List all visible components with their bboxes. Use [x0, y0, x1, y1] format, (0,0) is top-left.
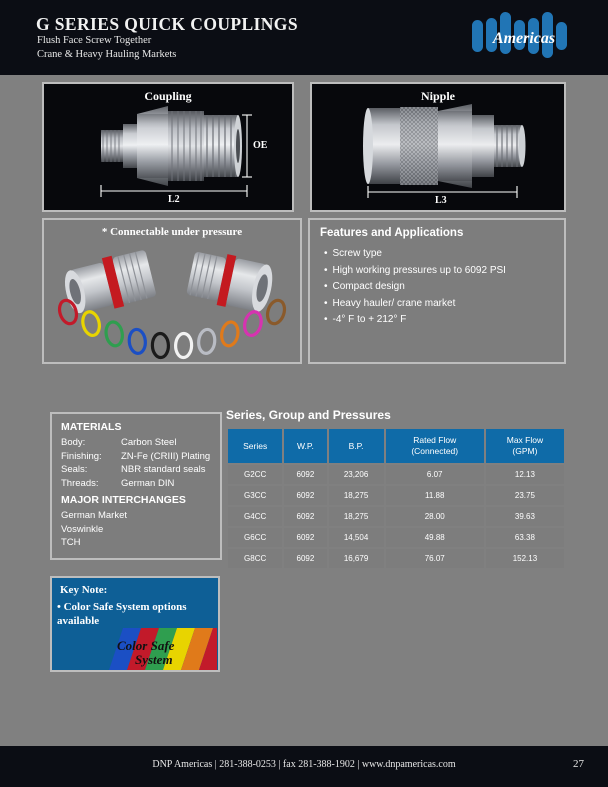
interchange-item: German Market: [61, 509, 127, 523]
table-row: G3CC 6092 18,275 11.88 23.75: [228, 486, 564, 505]
svg-text:Americas: Americas: [492, 30, 555, 47]
table-row: G6CC 6092 14,504 49.88 63.38: [228, 528, 564, 547]
color-ring: [80, 310, 101, 337]
coupler-pair-with-color-rings-image: [44, 234, 300, 362]
cell-wp: 6092: [284, 549, 326, 568]
material-value: Carbon Steel: [121, 436, 210, 450]
features-heading: Features and Applications: [320, 227, 463, 239]
cell-rated-flow: 49.88: [386, 528, 484, 547]
cell-max-flow: 12.13: [486, 465, 564, 484]
color-ring: [175, 333, 192, 358]
material-value: German DIN: [121, 477, 210, 491]
column-header-max-flow: Max Flow (GPM): [486, 429, 564, 463]
color-ring: [220, 321, 240, 347]
column-header-wp: W.P.: [284, 429, 326, 463]
cell-wp: 6092: [284, 528, 326, 547]
table-row: G8CC 6092 16,679 76.07 152.13: [228, 549, 564, 568]
column-header-series: Series: [228, 429, 282, 463]
column-header-rated-flow: Rated Flow (Connected): [386, 429, 484, 463]
coupling-dim-l2: L2: [168, 194, 180, 205]
cell-series: G8CC: [228, 549, 282, 568]
features-list: Screw type High working pressures up to …: [324, 246, 558, 329]
key-note-title: Key Note:: [60, 584, 107, 596]
table-header-row: Series W.P. B.P. Rated Flow (Connected) …: [228, 429, 564, 463]
dnp-americas-logo: Americas: [470, 12, 578, 64]
material-row: Body: Carbon Steel: [61, 436, 210, 450]
cell-bp: 18,275: [329, 507, 384, 526]
cell-max-flow: 63.38: [486, 528, 564, 547]
cell-wp: 6092: [284, 465, 326, 484]
page-number: 27: [573, 758, 584, 770]
cell-bp: 16,679: [329, 549, 384, 568]
interchange-item: TCH: [61, 536, 127, 550]
color-safe-logo-line2: System: [135, 652, 173, 667]
coupling-figure-panel: Coupling: [42, 82, 294, 212]
color-safe-logo-line1: Color Safe: [117, 638, 175, 653]
cell-rated-flow: 76.07: [386, 549, 484, 568]
color-ring: [265, 298, 288, 326]
feature-item: -4° F to + 212° F: [324, 312, 558, 329]
features-panel: Features and Applications Screw type Hig…: [308, 218, 566, 364]
datasheet-page: G SERIES QUICK COUPLINGS Flush Face Scre…: [0, 0, 608, 787]
material-row: Finishing: ZN-Fe (CRIII) Plating: [61, 450, 210, 464]
color-ring: [104, 321, 124, 347]
nipple-product-image: [312, 84, 564, 210]
interchange-item: Voswinkle: [61, 523, 127, 537]
table-row: G4CC 6092 18,275 28.00 39.63: [228, 507, 564, 526]
material-key: Body:: [61, 436, 121, 450]
connectable-under-pressure-panel: * Connectable under pressure: [42, 218, 302, 364]
material-key: Finishing:: [61, 450, 121, 464]
cell-series: G2CC: [228, 465, 282, 484]
cell-max-flow: 39.63: [486, 507, 564, 526]
cell-max-flow: 23.75: [486, 486, 564, 505]
key-note-box: Key Note: • Color Safe System options av…: [50, 576, 220, 672]
color-safe-system-logo: Color Safe System: [109, 628, 217, 670]
cell-bp: 18,275: [329, 486, 384, 505]
major-interchanges-list: German Market Voswinkle TCH: [61, 509, 127, 550]
nipple-dim-l3: L3: [435, 195, 447, 206]
material-value: NBR standard seals: [121, 463, 210, 477]
key-note-text: • Color Safe System options available: [57, 600, 217, 628]
page-footer: DNP Americas | 281-388-0253 | fax 281-38…: [0, 746, 608, 787]
color-ring: [152, 333, 169, 358]
material-key: Seals:: [61, 463, 121, 477]
materials-heading: MATERIALS: [61, 421, 121, 433]
cell-wp: 6092: [284, 507, 326, 526]
coupling-dim-oe: OE: [253, 140, 267, 151]
nipple-figure-panel: Nipple: [310, 82, 566, 212]
feature-item: Compact design: [324, 279, 558, 296]
color-ring: [242, 310, 263, 337]
cell-max-flow: 152.13: [486, 549, 564, 568]
materials-panel: MATERIALS Body: Carbon Steel Finishing: …: [50, 412, 222, 560]
column-header-bp: B.P.: [329, 429, 384, 463]
color-ring: [197, 329, 215, 355]
cell-bp: 23,206: [329, 465, 384, 484]
material-row: Seals: NBR standard seals: [61, 463, 210, 477]
material-value: ZN-Fe (CRIII) Plating: [121, 450, 210, 464]
page-header: G SERIES QUICK COUPLINGS Flush Face Scre…: [0, 0, 608, 75]
cell-bp: 14,504: [329, 528, 384, 547]
cell-wp: 6092: [284, 486, 326, 505]
table-row: G2CC 6092 23,206 6.07 12.13: [228, 465, 564, 484]
cell-series: G4CC: [228, 507, 282, 526]
cell-series: G3CC: [228, 486, 282, 505]
feature-item: Heavy hauler/ crane market: [324, 296, 558, 313]
cell-rated-flow: 28.00: [386, 507, 484, 526]
footer-contact: DNP Americas | 281-388-0253 | fax 281-38…: [0, 759, 608, 770]
color-ring: [128, 329, 146, 355]
page-subtitle-1: Flush Face Screw Together: [37, 35, 151, 46]
material-key: Threads:: [61, 477, 121, 491]
cell-series: G6CC: [228, 528, 282, 547]
cell-rated-flow: 6.07: [386, 465, 484, 484]
feature-item: Screw type: [324, 246, 558, 263]
cell-rated-flow: 11.88: [386, 486, 484, 505]
materials-rows: Body: Carbon Steel Finishing: ZN-Fe (CRI…: [61, 436, 210, 490]
feature-item: High working pressures up to 6092 PSI: [324, 263, 558, 280]
material-row: Threads: German DIN: [61, 477, 210, 491]
major-interchanges-heading: MAJOR INTERCHANGES: [61, 494, 186, 506]
table-heading: Series, Group and Pressures: [226, 408, 391, 422]
page-title: G SERIES QUICK COUPLINGS: [36, 14, 298, 35]
series-group-pressures-table: Series W.P. B.P. Rated Flow (Connected) …: [226, 427, 566, 570]
page-subtitle-2: Crane & Heavy Hauling Markets: [37, 49, 176, 60]
